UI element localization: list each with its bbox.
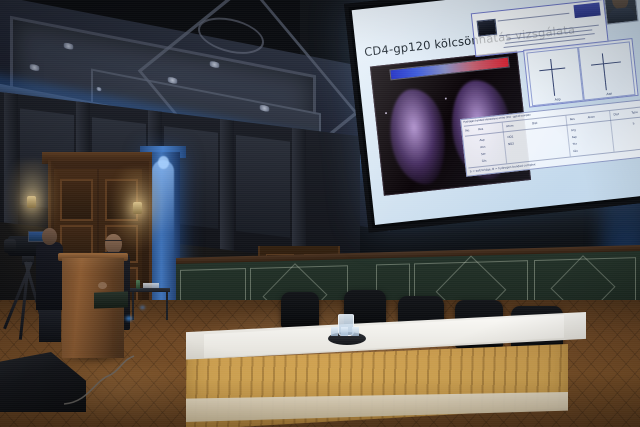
bond [604,73,606,82]
electrostatic-colorbar [389,57,509,81]
table-cell: OD1 [507,134,514,139]
drinking-glass [331,327,338,336]
presenter-glasses [105,240,122,244]
table-cell: ND2 [508,141,514,146]
wall-sconce-light [133,202,142,214]
bond [553,88,555,96]
bond [605,82,607,90]
camera-lens [4,239,16,253]
floor-cable [60,352,180,412]
author-portrait [602,0,638,25]
bond [602,53,604,63]
wall-bay [236,135,290,238]
article-thumbnail-icon [477,19,498,37]
abstract-text-line [498,13,570,22]
bond [552,79,554,88]
table-divider [565,116,570,157]
bond [550,59,552,69]
table-cell: Asp [571,135,577,140]
equipment-box-on-table [94,291,128,308]
projected-slide: CD4-gp120 kölcsönhatás vizsgálata [352,0,640,225]
portrait-shoulders [608,7,635,24]
drinking-glass [341,327,348,336]
side-table-leg [166,292,168,320]
molecule-marker [385,112,387,114]
table-cell: Gln [482,159,487,163]
table-header-cell: Res [478,127,483,132]
table-header-cell: Dist [613,112,619,117]
papers-on-side-table [143,283,159,288]
bond [591,61,621,65]
table-divider [502,123,507,164]
molecule-marker [445,97,447,99]
bond [603,63,605,73]
journal-logo-icon [573,2,600,18]
head-table [186,300,586,427]
operator-legs [39,306,61,342]
wall-sconce-light [27,196,36,208]
table-header-cell: Res [570,117,575,122]
drinking-glass [352,327,359,336]
presenter-hand [98,282,107,289]
table-header-cell: Atom [587,115,595,120]
conference-hall-photo: CD4-gp120 kölcsönhatás vizsgálata [0,0,640,427]
table-header-cell: No. [465,128,470,132]
operator-head [42,228,57,245]
wooden-podium[interactable] [62,258,124,358]
chemical-structures-panel: Asp Asn [523,38,639,108]
bond [551,69,553,79]
table-header-cell: Dist [532,121,538,126]
chem-structure-asn: Asn [578,41,636,100]
table-cell: Thr [572,142,577,146]
table-cell: Glu [573,149,578,153]
blue-led-floor-light [139,305,146,310]
wall-pilaster [292,128,306,260]
table-cell: S [632,121,634,125]
blue-led-floor-light [124,315,134,322]
table-cell: Ser [481,152,486,156]
table-header-cell: Atom [506,123,514,128]
molecule-render-left [386,86,450,187]
chem-structure-label: Asp [532,95,582,104]
table-divider [609,111,614,152]
presenter-head [105,234,122,254]
table-header-cell: Type [631,110,638,115]
wall-pilaster [220,119,234,251]
chem-structure-asp: Asp [526,47,584,106]
table-cell: Asp [479,138,485,143]
chem-structure-label: Asn [584,89,634,98]
table-cell: Arg [571,128,576,132]
water-bottle [136,280,140,289]
table-cell: Asn [480,145,486,150]
projection-screen[interactable]: CD4-gp120 kölcsönhatás vizsgálata [344,0,640,233]
door-panel [60,179,93,221]
